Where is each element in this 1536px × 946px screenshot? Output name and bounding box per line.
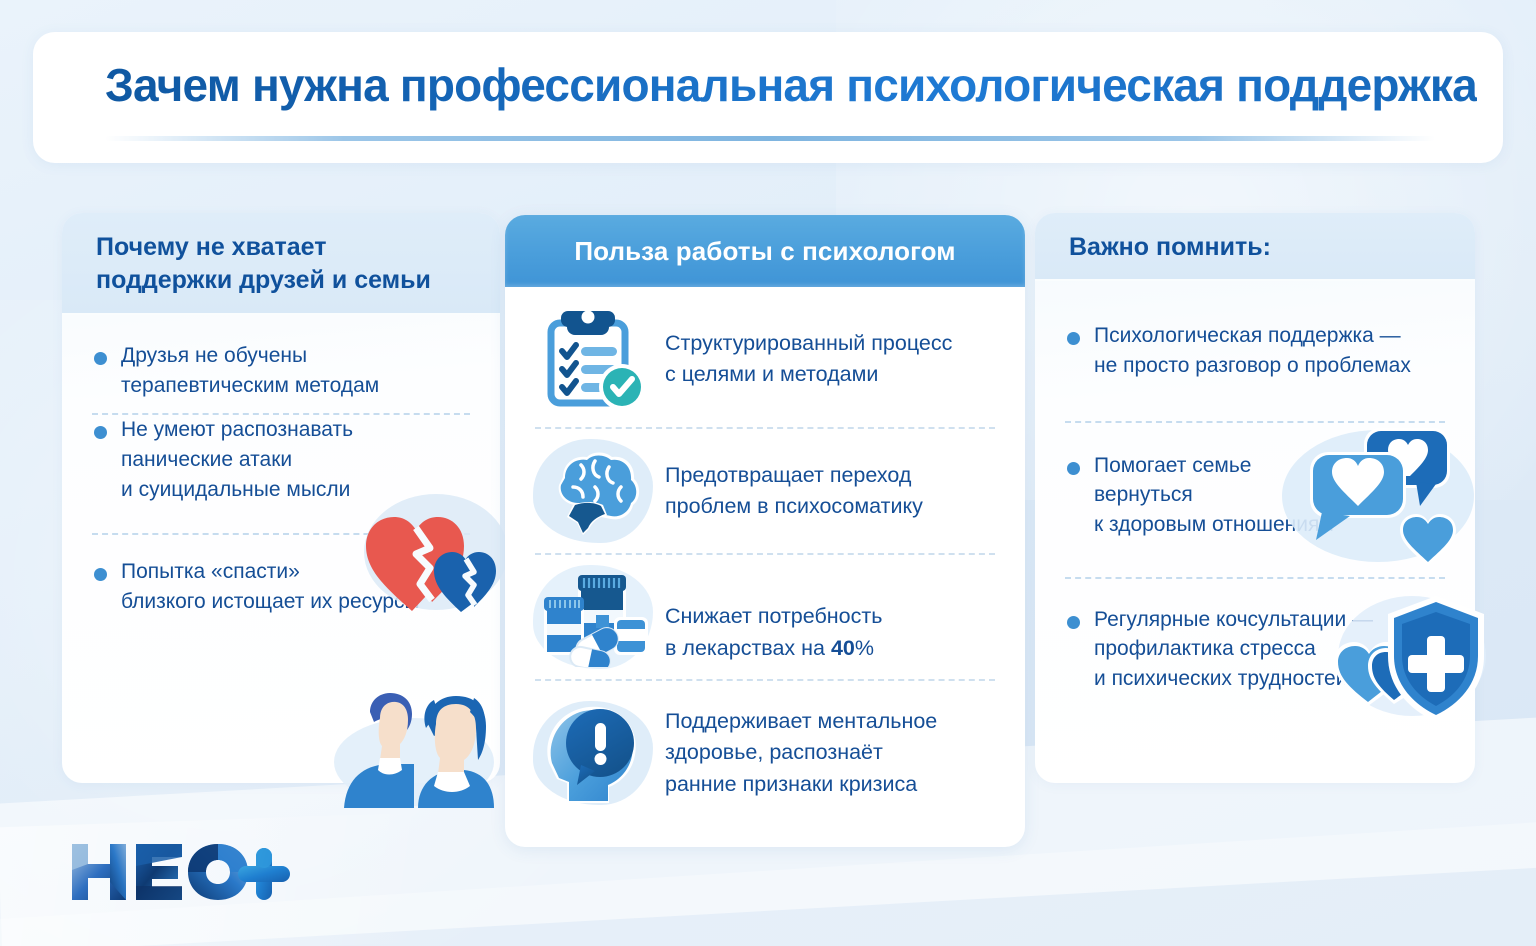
list-item: Предотвращает переход проблем в психосом… [527, 431, 1003, 551]
bullet-dot-icon [1067, 332, 1080, 345]
list-item: Друзья не обучены терапевтическим метода… [88, 341, 474, 413]
list-item: Поддерживает ментальное здоровье, распоз… [527, 683, 1003, 823]
medicine-highlight-value: 40 [831, 636, 855, 660]
list-item: Психологическая поддержка — не просто ра… [1061, 321, 1449, 381]
list-item: Помогает семье вернуться к здоровым отно… [1061, 451, 1449, 555]
medicine-text-after: % [855, 636, 874, 660]
bullet-dot-icon [94, 568, 107, 581]
list-item-label: Регулярные кочсультации — профилактика с… [1094, 605, 1373, 694]
list-item: Регулярные кочсультации — профилактика с… [1061, 605, 1449, 694]
card-right-header: Важно помнить: [1035, 213, 1475, 281]
list-divider [92, 533, 470, 535]
list-divider [1065, 421, 1445, 423]
card-left-list: Друзья не обучены терапевтическим метода… [62, 315, 500, 629]
bullet-dot-icon [1067, 462, 1080, 475]
card-left-title: Почему не хватает поддержки друзей и сем… [96, 231, 466, 296]
infographic-page: Зачем нужна профессиональная психологиче… [0, 0, 1536, 946]
list-item-label: Не умеют распознавать панические атаки и… [121, 415, 353, 504]
list-divider [535, 427, 995, 429]
medicine-bottles-icon [527, 561, 659, 673]
logo-neo-plus [66, 836, 296, 912]
card-right-title: Важно помнить: [1069, 231, 1441, 264]
list-item-label: Поддерживает ментальное здоровье, распоз… [659, 706, 937, 800]
list-divider [535, 679, 995, 681]
list-item: Снижает потребность в лекарствах на 40% [527, 557, 1003, 677]
card-middle-header: Польза работы с психологом [505, 215, 1025, 287]
list-item: Структурированный процесс с целями и мет… [527, 293, 1003, 425]
list-item-label: Предотвращает переход проблем в психосом… [659, 460, 923, 522]
page-title: Зачем нужна профессиональная психологиче… [105, 58, 1477, 112]
card-middle-title: Польза работы с психологом [574, 236, 955, 267]
head-exclamation-icon [527, 697, 659, 809]
card-middle-list: Структурированный процесс с целями и мет… [505, 287, 1025, 823]
list-item-label: Снижает потребность в лекарствах на 40% [659, 570, 882, 664]
card-right-list: Психологическая поддержка — не просто ра… [1035, 281, 1475, 694]
bullet-dot-icon [1067, 616, 1080, 629]
list-divider [1065, 577, 1445, 579]
card-left-header: Почему не хватает поддержки друзей и сем… [62, 213, 500, 315]
card-why-friends-not-enough: Почему не хватает поддержки друзей и сем… [62, 213, 500, 783]
list-item-label: Психологическая поддержка — не просто ра… [1094, 321, 1411, 381]
list-item-label: Структурированный процесс с целями и мет… [659, 328, 952, 390]
list-item-label: Помогает семье вернуться к здоровым отно… [1094, 451, 1334, 540]
clipboard-checklist-icon [527, 303, 659, 415]
brain-icon [527, 435, 659, 547]
card-benefits-of-psychologist: Польза работы с психологом [505, 215, 1025, 847]
title-underline [105, 136, 1435, 141]
bullet-dot-icon [94, 352, 107, 365]
list-divider [535, 553, 995, 555]
list-item: Попытка «спасти» близкого истощает их ре… [88, 557, 474, 629]
title-card: Зачем нужна профессиональная психологиче… [33, 32, 1503, 163]
card-important-to-remember: Важно помнить: Психологическая поддержка… [1035, 213, 1475, 783]
bullet-dot-icon [94, 426, 107, 439]
list-item-label: Попытка «спасти» близкого истощает их ре… [121, 557, 420, 617]
list-item-label: Друзья не обучены терапевтическим метода… [121, 341, 379, 401]
list-item: Не умеют распознавать панические атаки и… [88, 415, 474, 519]
